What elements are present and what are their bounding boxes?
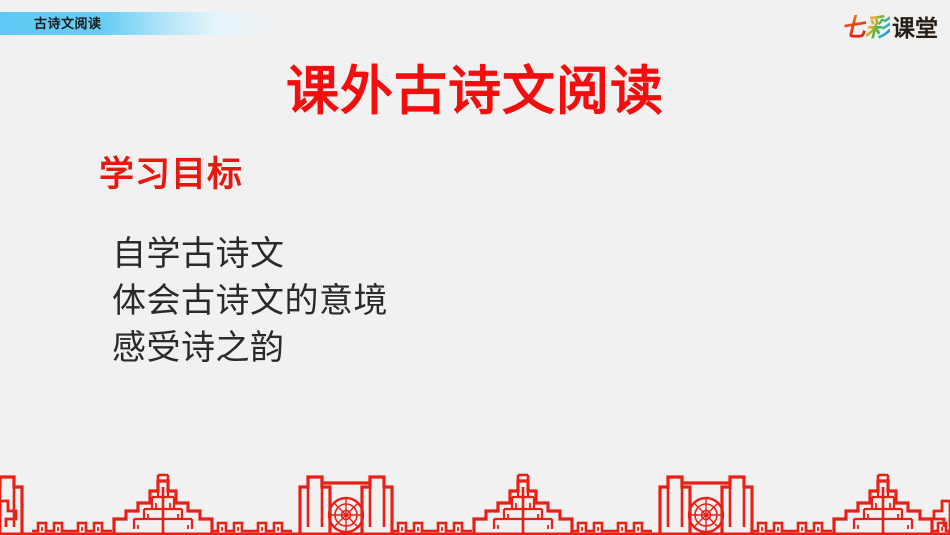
logo-char-qi: 七 — [841, 13, 866, 43]
section-heading-learning-objectives: 学习目标 — [99, 153, 243, 197]
motif-row — [0, 475, 950, 535]
slide-canvas: 古诗文阅读 七 彩 课堂 课外古诗文阅读 学习目标 自学古诗文 体会古诗文的意境… — [0, 0, 950, 535]
bottom-decorative-border — [0, 457, 950, 535]
objectives-list: 自学古诗文 体会古诗文的意境 感受诗之韵 — [112, 231, 388, 372]
page-title: 课外古诗文阅读 — [0, 62, 950, 122]
objective-line: 体会古诗文的意境 — [112, 278, 388, 325]
objective-line: 自学古诗文 — [112, 231, 388, 278]
lattice-pattern-icon — [0, 457, 950, 535]
logo-text-ketang: 课堂 — [892, 14, 938, 44]
brand-logo: 七 彩 课堂 — [841, 13, 938, 45]
logo-char-cai: 彩 — [865, 13, 890, 43]
topbar-label: 古诗文阅读 — [34, 13, 102, 34]
objective-line: 感受诗之韵 — [112, 325, 388, 372]
